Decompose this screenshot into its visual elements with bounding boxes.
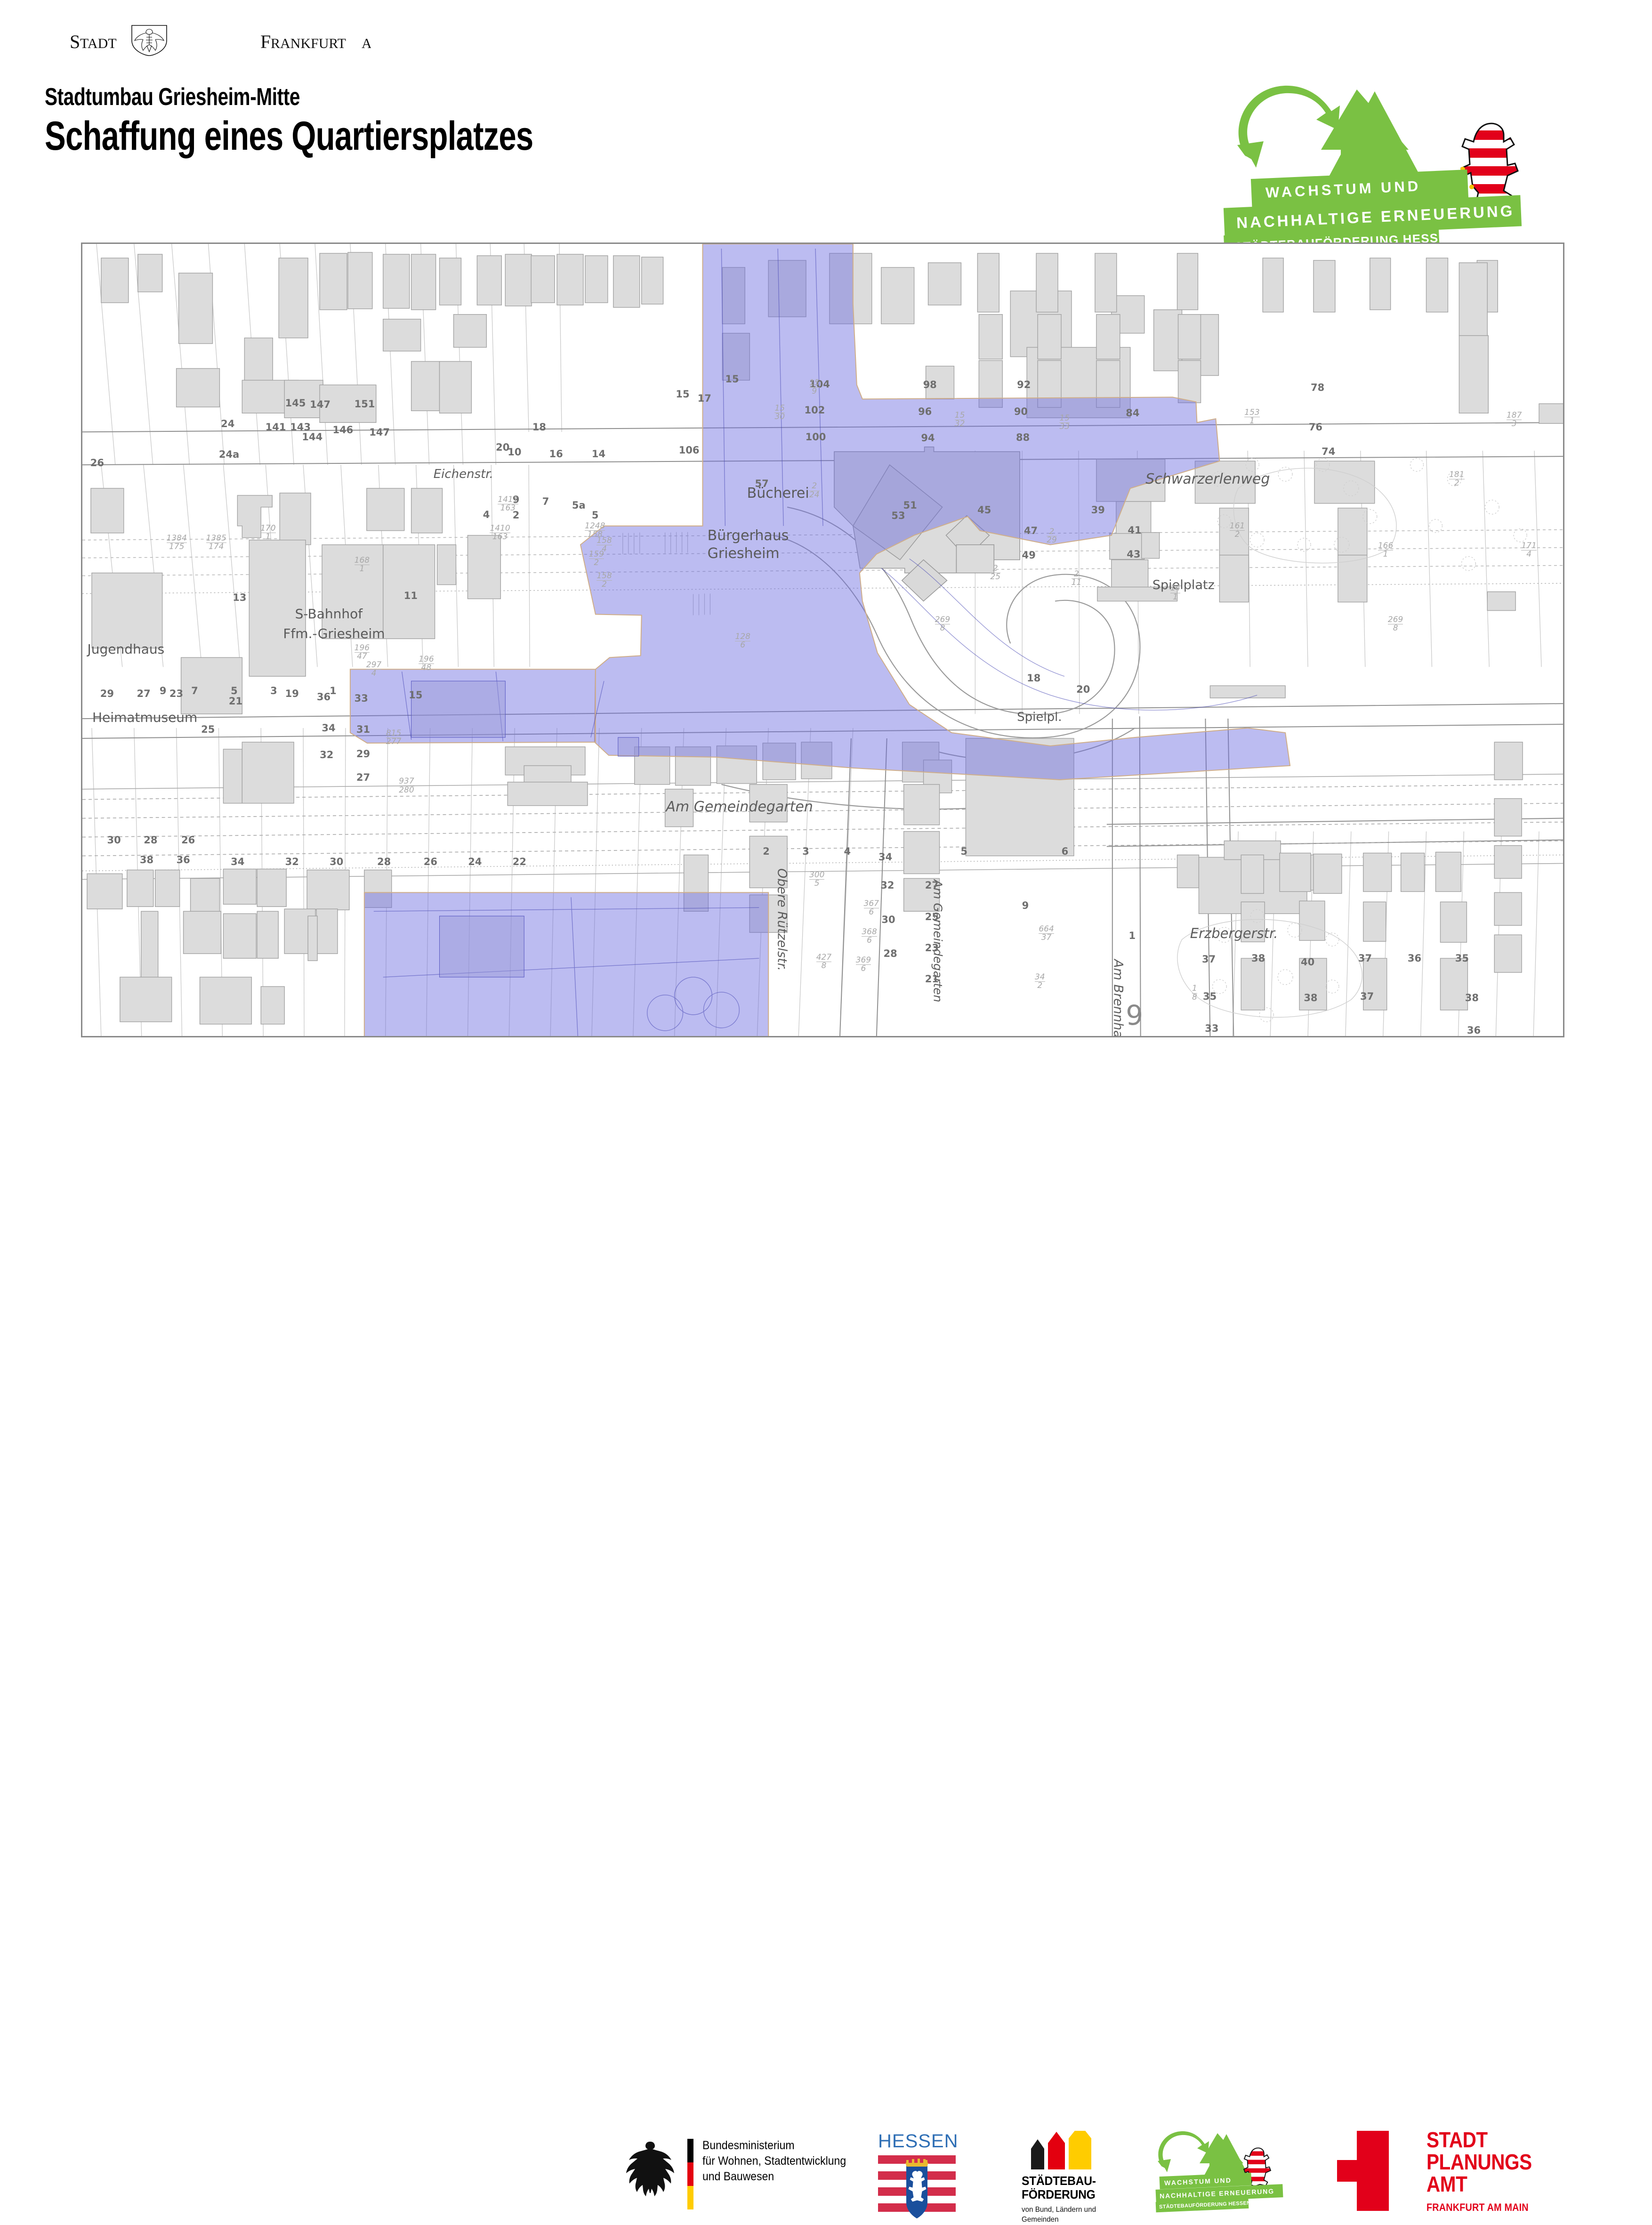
house-number: 28 xyxy=(144,834,157,846)
house-number: 5 xyxy=(231,685,238,696)
parcel-number: 342 xyxy=(1035,973,1045,989)
spa-name: STADT PLANUNGS AMT xyxy=(1426,2129,1532,2195)
parcel-number: 1531 xyxy=(1244,409,1259,425)
title-block: Stadtumbau Griesheim-Mitte Schaffung ein… xyxy=(45,85,1033,156)
stadtplanungsamt-logo: STADT PLANUNGS AMT FRANKFURT AM MAIN xyxy=(1337,2131,1408,2213)
house-number: 26 xyxy=(90,457,104,469)
parcel-number: 937280 xyxy=(399,777,414,793)
house-number: 47 xyxy=(1024,525,1038,536)
house-number: 30 xyxy=(107,834,121,846)
house-number: 1 xyxy=(330,685,337,696)
house-number: 25 xyxy=(201,724,215,735)
parcel-number: 2698 xyxy=(935,616,950,632)
house-number: 23 xyxy=(925,942,939,954)
bmwsb-logo: Bundesministerium für Wohnen, Stadtentwi… xyxy=(621,2138,678,2211)
house-number: 36 xyxy=(1408,953,1421,964)
parcel-number: 2974 xyxy=(366,661,381,677)
house-number: 18 xyxy=(1027,672,1040,684)
three-houses-icon xyxy=(1022,2131,1116,2169)
parcel-number: 815277 xyxy=(386,729,401,745)
parcel-number: 2698 xyxy=(1388,616,1403,632)
house-number: 37 xyxy=(1358,953,1372,964)
house-number: 23 xyxy=(169,688,183,699)
street-label: Obere Rützelstr. xyxy=(774,868,789,971)
house-number: 20 xyxy=(1076,684,1090,695)
house-number: 22 xyxy=(513,856,526,867)
svg-text:TADT: TADT xyxy=(80,36,117,51)
house-number: 25 xyxy=(925,911,939,922)
poi-label: Griesheim xyxy=(708,545,780,562)
house-number: 90 xyxy=(1014,406,1028,417)
parcel-number: 1533 xyxy=(1059,414,1070,430)
parcel-number: 19647 xyxy=(355,644,370,660)
house-number: 9 xyxy=(1022,900,1029,911)
house-number: 2 xyxy=(763,846,770,857)
house-number: 100 xyxy=(806,431,826,443)
house-number: 15 xyxy=(725,373,739,385)
house-number: 21 xyxy=(925,973,939,985)
parcel-number: 1384175 xyxy=(167,534,187,550)
staedtebau-name: STÄDTEBAU- FÖRDERUNG xyxy=(1022,2174,1125,2201)
house-number: 76 xyxy=(1309,421,1322,433)
spa-line1: STADT xyxy=(1426,2129,1532,2151)
house-number: 14 xyxy=(592,448,605,460)
house-number: 28 xyxy=(884,948,897,959)
parcel-number: 1582 xyxy=(596,572,612,588)
page-subtitle: Stadtumbau Griesheim-Mitte xyxy=(45,85,816,109)
house-number: 19 xyxy=(285,688,299,699)
staedtebau-line2: FÖRDERUNG xyxy=(1022,2188,1125,2201)
parcel-number: 19648 xyxy=(419,655,434,672)
house-number: 78 xyxy=(1311,382,1324,393)
house-number: 37 xyxy=(1202,954,1216,965)
staedtebau-sub2: Gemeinden xyxy=(1022,2215,1125,2225)
house-number: 84 xyxy=(1126,407,1139,419)
house-number: 147 xyxy=(310,399,330,410)
house-number: 102 xyxy=(804,405,825,416)
house-number: 36 xyxy=(177,854,190,866)
house-number: 30 xyxy=(330,856,343,867)
street-label: Erzbergerstr. xyxy=(1190,925,1278,941)
street-label: Eichenstr. xyxy=(434,467,493,481)
house-number: 98 xyxy=(923,379,937,390)
house-number: 45 xyxy=(977,504,991,516)
parcel-number: 1385174 xyxy=(206,534,226,550)
wachstum-logo-small: WACHSTUM UND NACHHALTIGE ERNEUERUNG STÄD… xyxy=(1156,2133,1311,2216)
city-logo: STADT FRANKFURT AM xyxy=(70,24,371,57)
house-number: 1 xyxy=(1129,930,1136,941)
house-number: 106 xyxy=(679,445,700,456)
bmwsb-line2: für Wohnen, Stadtentwicklung xyxy=(702,2153,846,2169)
house-number: 36 xyxy=(317,691,330,703)
house-number: 32 xyxy=(320,749,333,761)
house-number: 32 xyxy=(880,880,894,891)
house-number: 53 xyxy=(891,510,905,521)
parcel-number: 4278 xyxy=(816,954,831,970)
bmwsb-line3: und Bauwesen xyxy=(702,2169,846,2185)
house-number: 26 xyxy=(181,834,195,846)
parcel-number: 3005 xyxy=(809,871,824,887)
house-number: 9 xyxy=(160,685,167,696)
house-number: 35 xyxy=(1455,953,1469,964)
spa-line2: PLANUNGS xyxy=(1426,2151,1532,2173)
house-number: 29 xyxy=(356,748,370,760)
house-number: 145 xyxy=(285,397,306,409)
parcel-number: 1410163 xyxy=(490,525,510,541)
house-number: 57 xyxy=(755,478,768,489)
parcel-number: 159 xyxy=(809,379,820,395)
poi-label: S-Bahnhof xyxy=(295,606,363,622)
house-number: 3 xyxy=(802,846,809,857)
house-number: 5 xyxy=(592,510,599,521)
house-number: 6 xyxy=(1062,846,1069,857)
svg-text:F: F xyxy=(260,31,271,52)
house-number: 88 xyxy=(1016,432,1030,443)
house-number: 5 xyxy=(960,846,967,857)
poi-label: Ffm.-Griesheim xyxy=(283,626,385,641)
poi-label: Spielpl. xyxy=(1017,710,1062,724)
house-number: 27 xyxy=(137,688,151,699)
parcel-number: 229 xyxy=(1047,528,1057,544)
spa-subline: FRANKFURT AM MAIN xyxy=(1426,2201,1529,2214)
house-number: 30 xyxy=(881,914,895,925)
german-flag-bar xyxy=(687,2139,693,2209)
parcel-number: 1873 xyxy=(1507,412,1522,428)
parcel-number: 1681 xyxy=(355,557,370,573)
house-number: 34 xyxy=(878,851,892,863)
poi-label: Heimatmuseum xyxy=(92,710,197,725)
house-number: 29 xyxy=(100,688,114,699)
parcel-number: 1286 xyxy=(735,633,750,649)
hessen-flag-icon xyxy=(878,2154,956,2220)
footer-logo-bar: Bundesministerium für Wohnen, Stadtentwi… xyxy=(0,1062,1652,1161)
hessen-logo: HESSEN xyxy=(878,2131,958,2223)
house-number: 13 xyxy=(233,592,246,603)
house-number: 18 xyxy=(532,421,546,433)
stadtplanungsamt-mark-icon xyxy=(1337,2131,1408,2211)
house-number: 41 xyxy=(1128,525,1141,536)
house-number: 40 xyxy=(1301,956,1314,968)
parcel-number: 1530 xyxy=(774,405,785,421)
house-number: 94 xyxy=(921,432,935,444)
house-number: 3 xyxy=(270,685,277,696)
parcel-number: 1714 xyxy=(1521,542,1536,558)
poi-label: Bürgerhaus xyxy=(708,527,789,544)
house-number: 26 xyxy=(424,856,437,867)
house-number: 21 xyxy=(229,696,242,707)
parcel-number: 3676 xyxy=(864,900,879,916)
parcel-number: 1612 xyxy=(1230,522,1245,538)
cadastral-map[interactable]: Eichenstr.SchwarzerlenwegErzbergerstr.Am… xyxy=(81,243,1564,1037)
house-number: 7 xyxy=(191,685,198,696)
svg-text:AM: AM xyxy=(362,36,371,51)
parcel-number: 1411163 xyxy=(498,496,518,512)
house-number: 38 xyxy=(140,854,153,866)
house-number: 151 xyxy=(355,398,375,410)
house-number: 17 xyxy=(698,393,711,404)
parcel-number: 224 xyxy=(809,482,820,498)
parcel-number: 1592 xyxy=(589,550,604,566)
staedtebau-subline: von Bund, Ländern und Gemeinden xyxy=(1022,2205,1125,2225)
house-number: 96 xyxy=(918,406,932,417)
parcel-number: 3686 xyxy=(862,928,877,944)
parcel-number: 225 xyxy=(990,565,1000,581)
house-number: 5a xyxy=(572,500,586,511)
house-number: 33 xyxy=(355,693,368,704)
house-number: 38 xyxy=(1304,992,1317,1003)
house-number: 10 xyxy=(508,446,521,458)
svg-text:RANKFURT: RANKFURT xyxy=(271,36,346,51)
parcel-number: 1812 xyxy=(1449,471,1464,487)
house-number: 24 xyxy=(221,418,234,429)
house-number: 24a xyxy=(219,449,239,460)
parcel-number: 1661 xyxy=(1378,542,1393,558)
svg-text:S: S xyxy=(70,31,80,52)
parcel-number: 141 xyxy=(1170,584,1181,600)
house-number: 37 xyxy=(1360,991,1374,1002)
staedtebaufoerderung-logo: STÄDTEBAU- FÖRDERUNG von Bund, Ländern u… xyxy=(1022,2131,1130,2225)
house-number: 15 xyxy=(409,689,422,701)
house-number: 34 xyxy=(322,722,335,734)
street-label: Am Brennhaus xyxy=(1111,959,1126,1037)
staedtebau-line1: STÄDTEBAU- xyxy=(1022,2174,1125,2188)
house-number: 24 xyxy=(468,856,482,867)
house-number: 35 xyxy=(1203,991,1217,1002)
house-number: 147 xyxy=(369,427,390,438)
poi-label: Jugendhaus xyxy=(88,641,165,657)
house-number: 15 xyxy=(676,388,689,400)
house-number: 32 xyxy=(285,856,299,867)
house-number: 144 xyxy=(302,431,322,443)
staedtebau-sub1: von Bund, Ländern und xyxy=(1022,2205,1125,2215)
house-number: 38 xyxy=(1465,992,1479,1003)
bmwsb-name: Bundesministerium für Wohnen, Stadtentwi… xyxy=(702,2138,846,2185)
spa-line3: AMT xyxy=(1426,2173,1532,2195)
house-number: 49 xyxy=(1022,550,1036,561)
house-number: 33 xyxy=(1205,1023,1218,1034)
bmwsb-line1: Bundesministerium xyxy=(702,2138,846,2153)
parcel-number: 18 xyxy=(1192,985,1197,1001)
house-number: 43 xyxy=(1127,549,1140,560)
house-number: 16 xyxy=(549,448,563,460)
house-number: 27 xyxy=(356,772,370,783)
house-number: 11 xyxy=(404,590,418,601)
house-number: 51 xyxy=(903,500,917,511)
parcel-number: 211 xyxy=(1072,570,1082,586)
house-number: 92 xyxy=(1017,379,1031,390)
house-number: 74 xyxy=(1322,446,1335,457)
house-number: 28 xyxy=(377,856,391,867)
parcel-number: 1532 xyxy=(955,412,965,428)
house-number: 27 xyxy=(925,880,939,891)
house-number: 36 xyxy=(1467,1025,1481,1036)
house-number: 141 xyxy=(266,421,286,433)
map-sheet-number: 9 xyxy=(1126,999,1143,1031)
street-label: Schwarzerlenweg xyxy=(1145,471,1270,487)
parcel-number: 66437 xyxy=(1039,925,1054,941)
house-number: 34 xyxy=(231,856,244,867)
house-number: 7 xyxy=(542,496,549,507)
house-number: 39 xyxy=(1091,504,1105,516)
house-number: 38 xyxy=(1251,953,1265,964)
house-number: 31 xyxy=(356,724,370,735)
poi-label: Spielplatz xyxy=(1152,578,1215,592)
house-number: 4 xyxy=(844,846,851,857)
page-title: Schaffung eines Quartiersplatzes xyxy=(45,116,816,156)
parcel-number: 1701 xyxy=(260,525,275,541)
street-label: Am Gemeindegarten xyxy=(666,799,813,815)
house-number: 4 xyxy=(483,509,490,520)
parcel-number: 3696 xyxy=(856,956,871,972)
house-number: 146 xyxy=(332,424,353,436)
federal-eagle-icon xyxy=(621,2138,678,2209)
hessen-label: HESSEN xyxy=(878,2131,958,2152)
